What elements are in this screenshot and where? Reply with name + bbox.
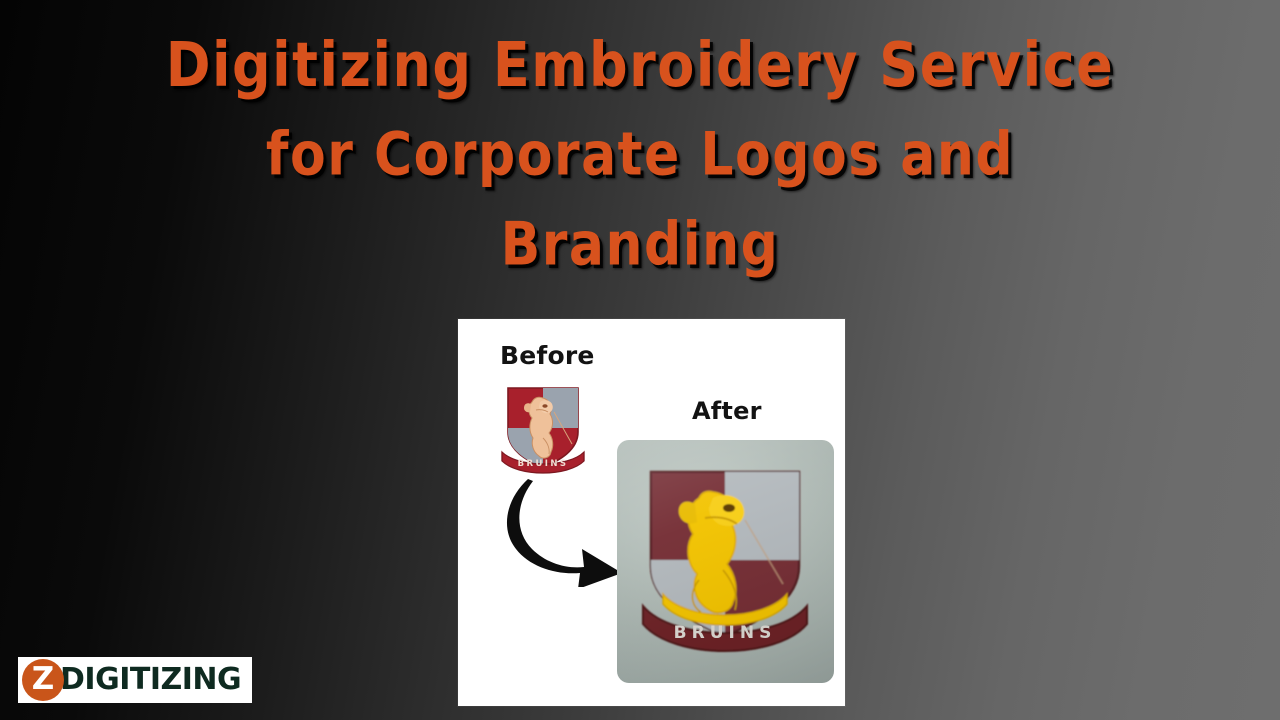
transform-arrow-icon	[500, 477, 628, 587]
logo-mark-letter: Z	[32, 664, 54, 695]
title-line-1: Digitizing Embroidery Service	[0, 14, 1280, 117]
brand-logo[interactable]: Z DIGITIZING	[18, 657, 252, 703]
title-line-3: Branding	[0, 194, 1280, 297]
before-crest-image: BRUINS	[498, 382, 588, 480]
slide-title: Digitizing Embroidery Service for Corpor…	[0, 14, 1280, 284]
photo-sheen-overlay	[617, 440, 834, 683]
after-patch-photo: BRUINS	[617, 440, 834, 683]
before-crest-banner-text: BRUINS	[518, 459, 569, 469]
before-after-card: Before	[458, 319, 845, 706]
title-line-2: for Corporate Logos and	[0, 104, 1280, 207]
logo-wordmark: DIGITIZING	[60, 665, 241, 695]
before-label: Before	[500, 341, 595, 370]
slide-canvas: Digitizing Embroidery Service for Corpor…	[0, 0, 1280, 720]
zdigitizing-mark-icon: Z	[22, 659, 64, 701]
after-label: After	[692, 397, 762, 425]
